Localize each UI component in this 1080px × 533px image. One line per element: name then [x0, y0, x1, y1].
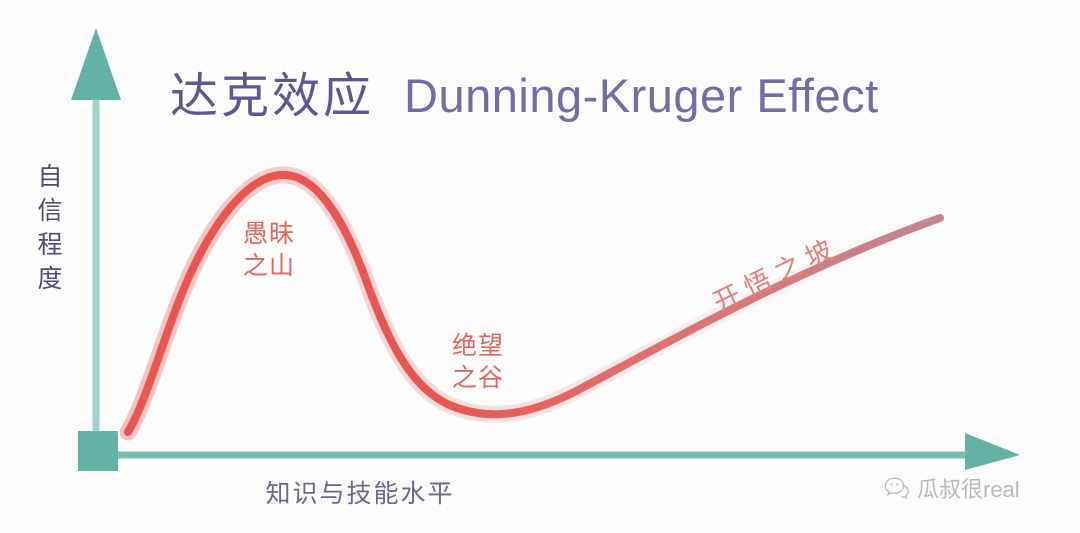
chart-title: 达克效应 Dunning-Kruger Effect — [170, 56, 879, 126]
y-axis-label-char-1: 信 — [33, 194, 67, 228]
annotation-peak-line2: 之山 — [243, 250, 295, 282]
watermark: 瓜叔很real — [884, 472, 1020, 504]
y-axis-arrow-icon — [71, 28, 121, 100]
wechat-bubble-icon — [884, 476, 910, 500]
confidence-curve — [128, 175, 940, 432]
annotation-peak: 愚昧 之山 — [243, 218, 295, 282]
dunning-kruger-chart: 达克效应 Dunning-Kruger Effect 自 信 程 度 知识与技能… — [0, 0, 1080, 533]
watermark-text: 瓜叔很real — [917, 472, 1020, 504]
annotation-valley: 绝望 之谷 — [452, 330, 504, 394]
y-axis-label: 自 信 程 度 — [33, 160, 67, 296]
curve-glow — [128, 175, 940, 432]
annotation-valley-line2: 之谷 — [452, 362, 504, 394]
annotation-peak-line1: 愚昧 — [243, 218, 295, 250]
origin-marker — [78, 431, 118, 471]
y-axis-label-char-0: 自 — [33, 160, 67, 194]
annotation-valley-line1: 绝望 — [452, 330, 504, 362]
title-english: Dunning-Kruger Effect — [404, 68, 879, 123]
y-axis-label-char-2: 程 — [33, 228, 67, 262]
x-axis-arrow-icon — [965, 433, 1020, 470]
title-chinese: 达克效应 — [170, 56, 374, 126]
y-axis-label-char-3: 度 — [33, 262, 67, 296]
